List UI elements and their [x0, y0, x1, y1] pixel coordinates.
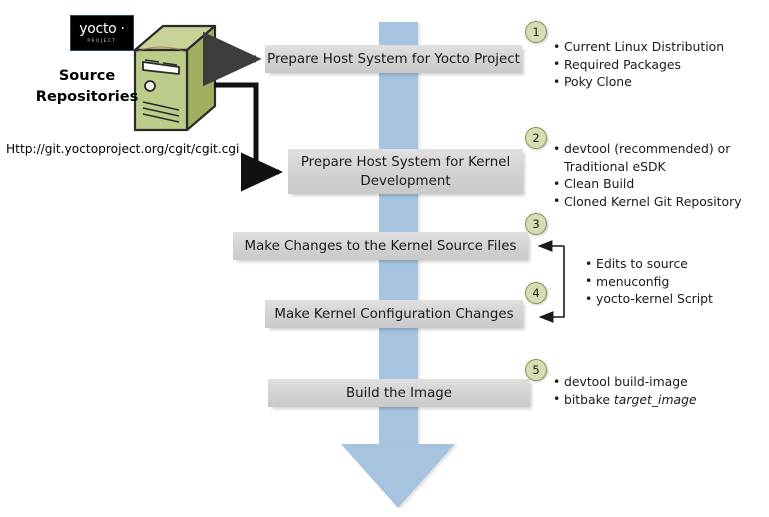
- note-item: menuconfig: [596, 273, 768, 291]
- notes-step-2: devtool (recommended) or Traditional eSD…: [551, 140, 766, 210]
- process-box-make-kernel-config-changes[interactable]: Make Kernel Configuration Changes: [265, 300, 523, 328]
- step-badge-number: 3: [532, 217, 539, 231]
- process-box-label: Make Changes to the Kernel Source Files: [245, 237, 517, 256]
- step-badge-4: 4: [525, 282, 547, 304]
- note-item: Clean Build: [564, 175, 766, 193]
- process-box-make-kernel-source-changes[interactable]: Make Changes to the Kernel Source Files: [233, 232, 528, 260]
- note-item: Edits to source: [596, 255, 768, 273]
- main-flow-arrow-head: [341, 444, 455, 508]
- process-box-prepare-host-kernel[interactable]: Prepare Host System for Kernel Developme…: [288, 149, 523, 194]
- step-badge-1: 1: [525, 21, 547, 43]
- note-command-prefix: bitbake: [564, 392, 614, 407]
- note-command-argument: target_image: [614, 392, 697, 407]
- step-badge-3: 3: [525, 213, 547, 235]
- note-item: devtool (recommended) or Traditional eSD…: [564, 140, 766, 175]
- step-badge-2: 2: [525, 127, 547, 149]
- process-box-label: Build the Image: [346, 384, 452, 403]
- note-item: devtool build-image: [564, 373, 766, 391]
- note-item: yocto-kernel Script: [596, 290, 768, 308]
- note-item: Poky Clone: [564, 73, 766, 91]
- step-badge-number: 5: [532, 363, 539, 377]
- process-box-prepare-host-yocto[interactable]: Prepare Host System for Yocto Project: [265, 45, 522, 73]
- step-badge-number: 2: [532, 131, 539, 145]
- note-item: Cloned Kernel Git Repository: [564, 193, 766, 211]
- yocto-logo-wordmark: yocto ·: [79, 22, 124, 36]
- diagram-canvas: yocto · PROJECT Source Repositories Http…: [0, 0, 769, 517]
- connector-server-to-step2: [214, 85, 279, 172]
- notes-step-5: devtool build-image bitbake target_image: [551, 373, 766, 408]
- note-item: Required Packages: [564, 56, 766, 74]
- yocto-logo-subtext: PROJECT: [87, 37, 116, 44]
- connector-bracket-steps-3-4: [539, 246, 564, 317]
- note-item: bitbake target_image: [564, 391, 766, 409]
- source-repositories-label: Source Repositories: [32, 66, 142, 108]
- source-repository-url: Http://git.yoctoproject.org/cgit/cgit.cg…: [6, 142, 239, 156]
- step-badge-5: 5: [525, 359, 547, 381]
- process-box-label: Make Kernel Configuration Changes: [274, 305, 513, 324]
- notes-steps-3-4: Edits to source menuconfig yocto-kernel …: [583, 255, 768, 308]
- step-badge-number: 1: [532, 25, 539, 39]
- server-tower-icon: [133, 24, 217, 132]
- process-box-build-the-image[interactable]: Build the Image: [268, 379, 530, 407]
- note-item: Current Linux Distribution: [564, 38, 766, 56]
- notes-step-1: Current Linux Distribution Required Pack…: [551, 38, 766, 91]
- process-box-label: Prepare Host System for Yocto Project: [267, 50, 520, 69]
- step-badge-number: 4: [532, 286, 539, 300]
- yocto-project-logo: yocto · PROJECT: [70, 15, 134, 51]
- process-box-label: Prepare Host System for Kernel Developme…: [288, 153, 523, 191]
